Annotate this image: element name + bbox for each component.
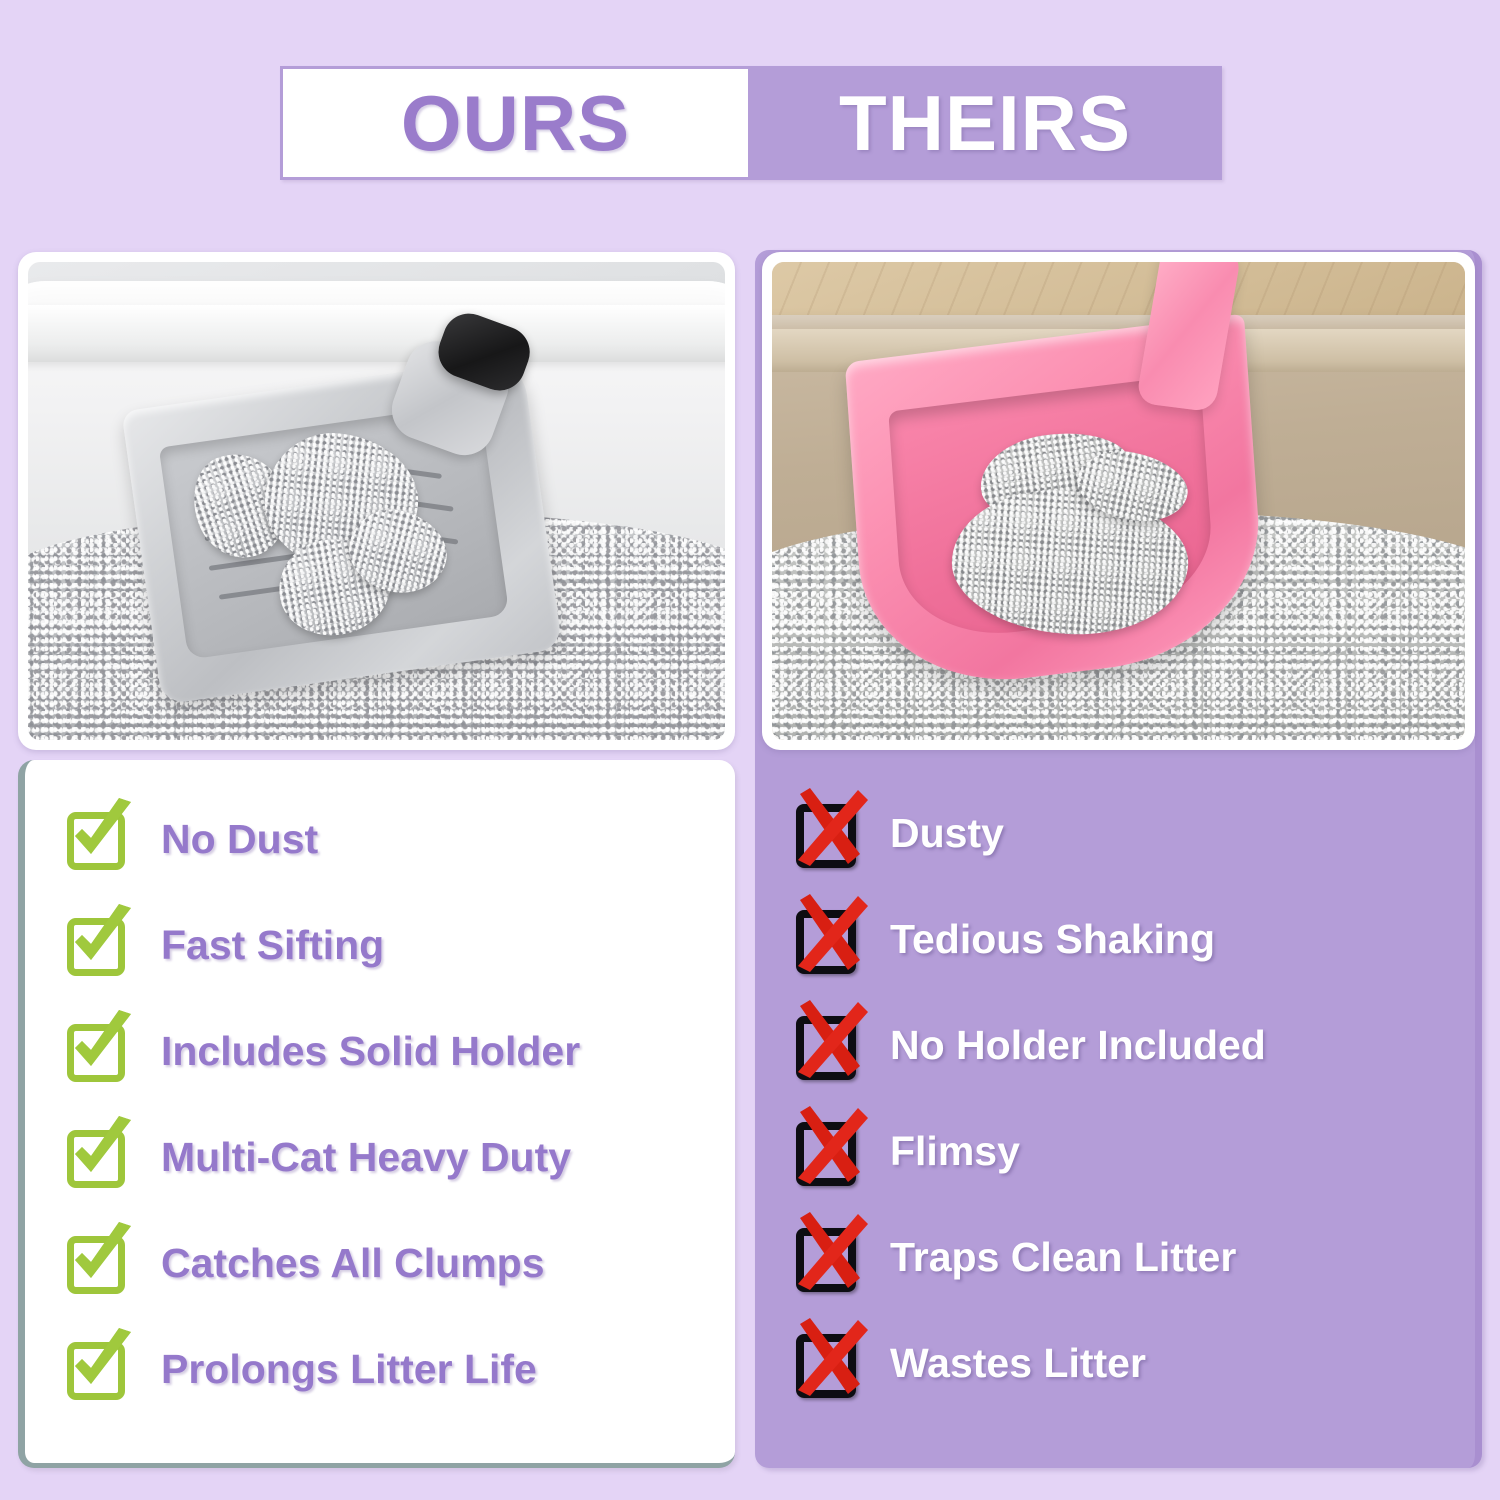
list-item: Multi-Cat Heavy Duty (25, 1104, 735, 1210)
ours-photo-scene (28, 262, 725, 740)
list-item: Tedious Shaking (762, 886, 1475, 992)
x-icon (790, 1218, 868, 1296)
check-icon (61, 800, 139, 878)
theirs-photo (772, 262, 1465, 740)
theirs-feature-list: Dusty Tedious Shaking No Holder Included (762, 760, 1475, 1468)
ours-photo (28, 262, 725, 740)
feature-label: Multi-Cat Heavy Duty (161, 1134, 571, 1181)
feature-label: Wastes Litter (890, 1340, 1146, 1387)
check-icon (61, 1330, 139, 1408)
theirs-photo-scene (772, 262, 1465, 740)
list-item: Prolongs Litter Life (25, 1316, 735, 1422)
feature-label: Dusty (890, 810, 1004, 857)
x-icon (790, 794, 868, 872)
feature-label: No Dust (161, 816, 318, 863)
header-theirs-label: THEIRS (839, 78, 1131, 169)
theirs-photo-card (762, 252, 1475, 750)
check-icon (61, 1012, 139, 1090)
list-item: Wastes Litter (762, 1310, 1475, 1416)
x-icon (790, 1006, 868, 1084)
feature-label: No Holder Included (890, 1022, 1266, 1069)
list-item: Flimsy (762, 1098, 1475, 1204)
ours-feature-list: No Dust Fast Sifting Includes Solid Hold… (18, 760, 735, 1468)
white-litter-box-rim (28, 305, 725, 362)
list-item: Fast Sifting (25, 892, 735, 998)
ours-photo-card (18, 252, 735, 750)
list-item: Traps Clean Litter (762, 1204, 1475, 1310)
feature-label: Traps Clean Litter (890, 1234, 1236, 1281)
x-icon (790, 900, 868, 978)
check-icon (61, 1118, 139, 1196)
feature-label: Tedious Shaking (890, 916, 1215, 963)
comparison-header: OURS THEIRS (280, 66, 1222, 180)
list-item: No Holder Included (762, 992, 1475, 1098)
feature-label: Prolongs Litter Life (161, 1346, 537, 1393)
header-ours-label: OURS (401, 78, 630, 169)
feature-label: Catches All Clumps (161, 1240, 545, 1287)
list-item: No Dust (25, 786, 735, 892)
x-icon (790, 1324, 868, 1402)
feature-label: Fast Sifting (161, 922, 384, 969)
header-ours-cell: OURS (283, 69, 751, 177)
feature-label: Includes Solid Holder (161, 1028, 580, 1075)
x-icon (790, 1112, 868, 1190)
list-item: Includes Solid Holder (25, 998, 735, 1104)
check-icon (61, 1224, 139, 1302)
list-item: Dusty (762, 780, 1475, 886)
list-item: Catches All Clumps (25, 1210, 735, 1316)
check-icon (61, 906, 139, 984)
feature-label: Flimsy (890, 1128, 1020, 1175)
header-theirs-cell: THEIRS (751, 69, 1219, 177)
